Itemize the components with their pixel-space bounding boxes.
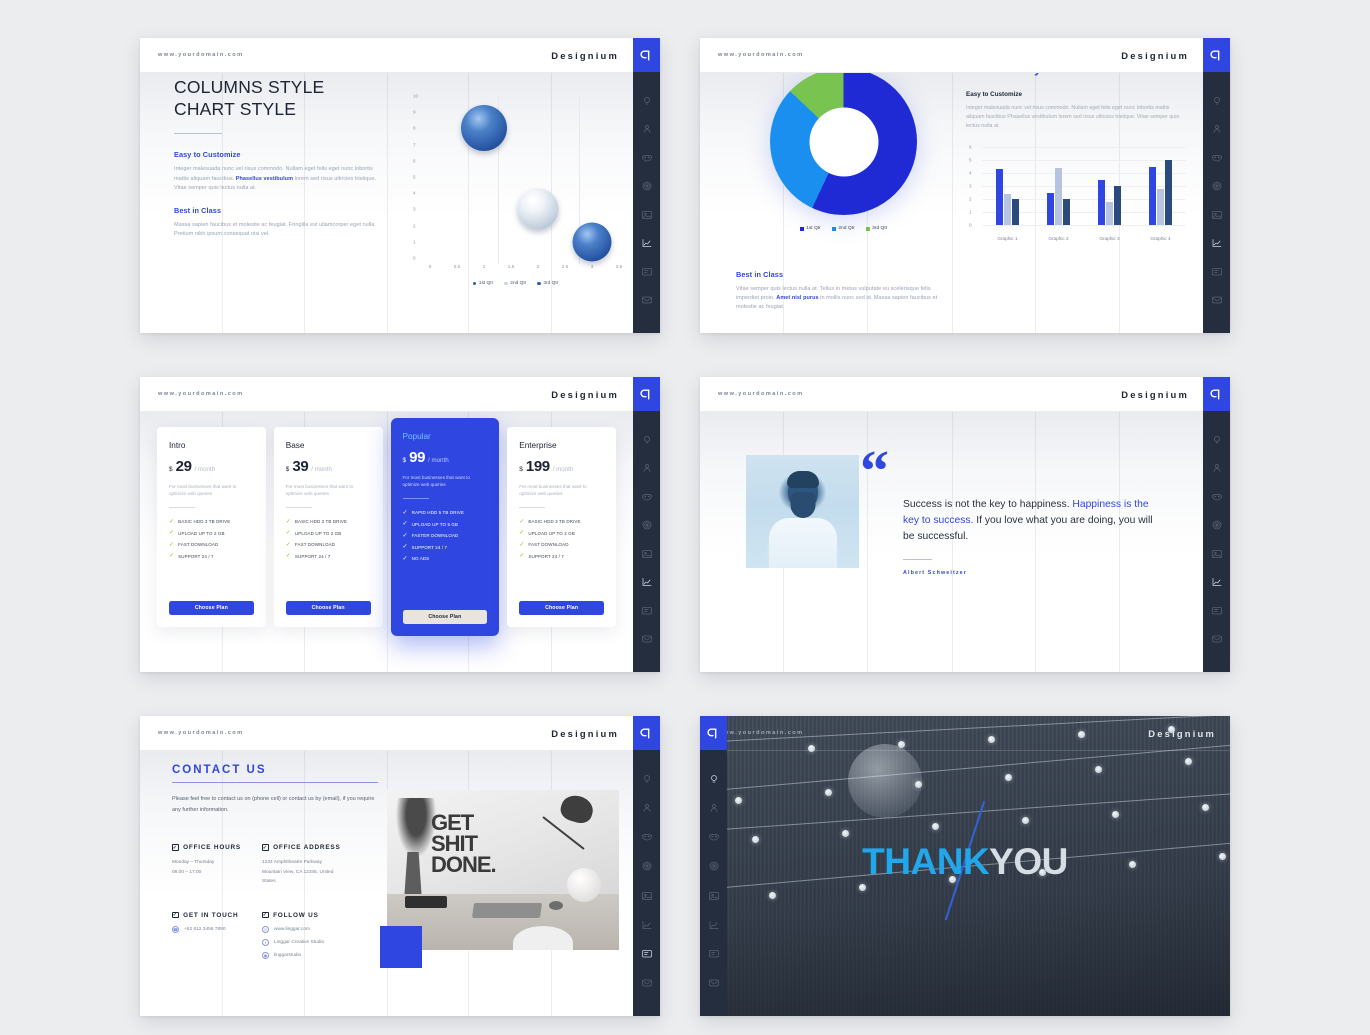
fingerprint-icon[interactable] (1211, 519, 1223, 531)
right-rail (633, 38, 660, 333)
plan-name: Enterprise (519, 441, 604, 450)
contact-heading: ✓OFFICE HOURS (172, 844, 262, 851)
feature-item: ✓FAST DOWNLOAD (519, 542, 604, 548)
chart-down-icon[interactable] (641, 576, 653, 588)
plan-name: Popular (403, 432, 488, 441)
feature-item: ✓FASTER DOWNLOAD (403, 533, 488, 539)
image-icon[interactable] (708, 890, 720, 902)
feature-list: ✓BASIC HDD 3 TB DRIVE✓UPLOAD UP TO 2 GB✓… (286, 519, 371, 560)
feature-label: FAST DOWNLOAD (295, 542, 335, 547)
section-heading-easy: Easy to Customize (966, 91, 1188, 98)
right-rail (1203, 377, 1230, 672)
section-heading-best: Best in Class (174, 206, 389, 215)
feature-list: ✓BASIC HDD 3 TB DRIVE✓UPLOAD UP TO 2 GB✓… (519, 519, 604, 560)
feature-item: ✓NO ADS (403, 556, 488, 562)
feature-label: UPLOAD UP TO 2 GB (528, 531, 574, 536)
feature-item: ✓FAST DOWNLOAD (169, 542, 254, 548)
y-tick-label: 6 (969, 145, 972, 150)
y-tick-label: 4 (413, 191, 416, 196)
card-rule (169, 507, 195, 508)
slide-quote[interactable]: www.yourdomain.com Designium “ Success i… (700, 377, 1230, 672)
contact-blocks: ✓OFFICE HOURSMonday – Thursday08.00 – 17… (172, 844, 382, 965)
y-tick-label: 0 (413, 256, 416, 261)
image-icon[interactable] (1211, 209, 1223, 221)
user-badge-icon[interactable] (708, 802, 720, 814)
mail-icon[interactable] (641, 977, 653, 989)
facebook-icon: f (262, 939, 269, 946)
rail-icon-list (633, 411, 660, 672)
contact-block: ✓FOLLOW US☉www.linggar.comfLinggar Creat… (262, 912, 382, 965)
bar[interactable] (1106, 202, 1113, 225)
donut-legend: 1st Qtr2nd Qtr3rd Qtr (736, 226, 951, 231)
feature-label: SUPPORT 24 / 7 (295, 554, 331, 559)
title-line-1: COLUMNS STYLE (174, 77, 324, 97)
chart-down-icon[interactable] (1211, 237, 1223, 249)
feature-label: UPLOAD UP TO 2 GB (295, 531, 341, 536)
lightbulb-icon[interactable] (708, 773, 720, 785)
feature-item: ✓BASIC HDD 3 TB DRIVE (169, 519, 254, 525)
feature-label: BASIC HDD 3 TB DRIVE (178, 519, 230, 524)
mask-icon[interactable] (641, 152, 653, 164)
feature-label: SUPPORT 24 / 7 (412, 545, 448, 550)
monitor-icon[interactable] (1211, 266, 1223, 278)
monitor-icon[interactable] (641, 605, 653, 617)
bar-group (1135, 147, 1186, 225)
bar[interactable] (1098, 180, 1105, 226)
legend-label: 2nd Qtr (510, 281, 526, 286)
plan-price: $199/ month (519, 458, 604, 475)
decorative-square (380, 926, 422, 968)
check-icon: ✓ (169, 553, 174, 559)
price-amount: 199 (526, 458, 550, 475)
currency-symbol: $ (169, 466, 173, 473)
price-period: / month (553, 466, 574, 473)
headline-word-a: THANK (862, 841, 989, 882)
light-bulb (1022, 817, 1029, 824)
check-icon: ✓ (169, 519, 174, 525)
price-period: / month (195, 466, 216, 473)
check-icon: ✓ (519, 542, 524, 548)
feature-item: ✓UPLOAD UP TO 2 GB (519, 530, 604, 536)
right-rail (633, 716, 660, 1016)
currency-symbol: $ (519, 466, 523, 473)
slide-contact-us[interactable]: www.yourdomain.com Designium CONTACT US … (140, 716, 660, 1016)
bar[interactable] (1149, 167, 1156, 226)
bar[interactable] (1157, 189, 1164, 225)
slide-pricing-plan[interactable]: www.yourdomain.com Designium Pricing Pla… (140, 377, 660, 672)
feature-item: ✓UPLOAD UP TO 2 GB (169, 530, 254, 536)
plan-price: $39/ month (286, 458, 371, 475)
x-tick-label: Graphic 1 (982, 236, 1033, 241)
fingerprint-icon[interactable] (708, 860, 720, 872)
portrait-image (746, 455, 859, 568)
pricing-card[interactable]: Enterprise$199/ monthFor most businesses… (507, 427, 616, 627)
user-badge-icon[interactable] (641, 462, 653, 474)
mask-icon[interactable] (708, 831, 720, 843)
y-tick-label: 5 (413, 175, 416, 180)
globe-icon: ☉ (262, 926, 269, 933)
y-tick-label: 5 (969, 158, 972, 163)
chart-down-icon[interactable] (641, 919, 653, 931)
contact-item[interactable]: fLinggar Creative Studio (262, 939, 382, 946)
monitor-icon[interactable] (1211, 605, 1223, 617)
x-tick-label: Graphic 4 (1135, 236, 1186, 241)
plan-name: Intro (169, 441, 254, 450)
contact-heading: ✓GET IN TOUCH (172, 912, 262, 919)
bar[interactable] (1114, 186, 1121, 225)
bubble-point[interactable] (573, 222, 612, 261)
bar[interactable] (1047, 193, 1054, 226)
check-icon: ✓ (286, 553, 291, 559)
price-period: / month (311, 466, 332, 473)
topbar-divider (700, 72, 1203, 73)
chart-gridline (982, 225, 1186, 226)
pricing-card[interactable]: Base$39/ monthFor most businesses that w… (274, 427, 383, 627)
bar[interactable] (1063, 199, 1070, 225)
chart-down-icon[interactable] (1211, 576, 1223, 588)
bar[interactable] (1055, 168, 1062, 225)
slide1-text-column: COLUMNS STYLE CHART STYLE Easy to Custom… (174, 76, 389, 239)
fingerprint-icon[interactable] (1211, 180, 1223, 192)
check-icon: ✓ (286, 530, 291, 536)
plan-description: For most businesses that want to optimiz… (169, 483, 254, 498)
photo-lamp-base (567, 868, 601, 902)
plan-description: For most businesses that want to optimiz… (519, 483, 604, 498)
legend-label: 1st Qtr (479, 281, 493, 286)
x-tick-label: 1.5 (508, 264, 514, 269)
user-badge-icon[interactable] (641, 802, 653, 814)
designium-logo-icon[interactable] (700, 716, 727, 750)
card-rule (403, 498, 429, 499)
mask-icon[interactable] (1211, 152, 1223, 164)
rail-icon-list (633, 72, 660, 333)
plan-price: $99/ month (403, 449, 488, 466)
rail-icon-list (700, 750, 727, 1016)
portrait-beard (790, 492, 815, 518)
body-link[interactable]: Phasellus vestibulum (236, 176, 293, 182)
page-title: COLUMNS STYLE CHART STYLE (174, 76, 389, 120)
bar-plot-area: 0123456 (982, 147, 1186, 225)
contact-intro: Please feel free to contact us on (phone… (172, 794, 380, 815)
slide-thank-you[interactable]: THANKYOU www.yourdomain.com Designium (700, 716, 1230, 1016)
feature-label: UPLOAD UP TO 5 GB (412, 522, 458, 527)
y-tick-label: 3 (969, 184, 972, 189)
image-icon[interactable] (641, 890, 653, 902)
fingerprint-icon[interactable] (641, 860, 653, 872)
checkbox-icon: ✓ (262, 844, 269, 851)
check-icon: ✓ (519, 519, 524, 525)
headline-word-b: YOU (989, 841, 1068, 882)
donut-ring (770, 68, 917, 215)
feature-label: FAST DOWNLOAD (528, 542, 568, 547)
slide-topbar: www.yourdomain.com Designium (700, 38, 1203, 72)
legend-item: 3rd Qtr (537, 281, 558, 286)
y-tick-label: 6 (413, 158, 416, 163)
designium-logo-icon[interactable] (1203, 38, 1230, 72)
plan-name: Base (286, 441, 371, 450)
brand-label: Designium (1121, 389, 1189, 400)
chart-down-icon[interactable] (641, 237, 653, 249)
y-tick-label: 1 (413, 239, 416, 244)
legend-item: 2nd Qtr (504, 281, 526, 286)
contact-item[interactable]: ☉www.linggar.com (262, 926, 382, 933)
plan-description: For most businesses that want to optimiz… (286, 483, 371, 498)
contact-line: 1234 Amphitheatre Parkway (262, 858, 382, 868)
donut-chart: 1st Qtr2nd Qtr3rd Qtr (736, 68, 951, 231)
legend-swatch (504, 282, 508, 286)
slide-topbar: www.yourdomain.com Designium (140, 38, 633, 72)
image-icon[interactable] (1211, 548, 1223, 560)
mask-icon[interactable] (641, 491, 653, 503)
feature-list: ✓BASIC HDD 3 TB DRIVE✓UPLOAD UP TO 2 GB✓… (169, 519, 254, 560)
x-tick-label: Graphic 3 (1084, 236, 1135, 241)
bar[interactable] (1004, 194, 1011, 225)
slide-canvas: www.yourdomain.com Designium 1st Qtr2nd … (700, 38, 1203, 333)
mask-icon[interactable] (641, 831, 653, 843)
contact-item[interactable]: ☎+62 812 3456 7890 (172, 926, 262, 933)
check-icon: ✓ (403, 556, 408, 562)
feature-label: NO ADS (412, 556, 430, 561)
quote-block: Success is not the key to happiness. Hap… (903, 497, 1161, 576)
title-rule (174, 133, 222, 134)
x-tick-label: 2.5 (562, 264, 568, 269)
monitor-icon[interactable] (708, 948, 720, 960)
y-tick-label: 0 (969, 223, 972, 228)
slide-topbar: www.yourdomain.com Designium (140, 377, 633, 411)
pricing-card[interactable]: Popular$99/ monthFor most businesses tha… (391, 418, 500, 636)
brand-label: Designium (551, 728, 619, 739)
bar-chart: 0123456 Graphic 1Graphic 2Graphic 3Graph… (966, 145, 1188, 241)
legend-item: 3rd Qtr (866, 226, 888, 231)
image-icon[interactable] (641, 548, 653, 560)
contact-heading-label: FOLLOW US (273, 912, 319, 919)
domain-label: www.yourdomain.com (718, 52, 804, 58)
light-bulb (1095, 766, 1102, 773)
contact-lines: 1234 Amphitheatre ParkwayMountain View, … (262, 858, 382, 887)
bar[interactable] (996, 169, 1003, 225)
image-icon[interactable] (641, 209, 653, 221)
choose-plan-button[interactable]: Choose Plan (169, 601, 254, 615)
lightbulb-icon[interactable] (641, 95, 653, 107)
designium-logo-icon[interactable] (633, 38, 660, 72)
pricing-card[interactable]: Intro$29/ monthFor most businesses that … (157, 427, 266, 627)
bubble-plot-area: 01234567891000.511.522.533.5 (430, 96, 619, 258)
monitor-icon[interactable] (641, 948, 653, 960)
chart-down-icon[interactable] (708, 919, 720, 931)
choose-plan-button[interactable]: Choose Plan (519, 601, 604, 615)
x-tick-label: 1 (483, 264, 486, 269)
contact-item-label: www.linggar.com (274, 927, 310, 932)
phone-icon: ☎ (172, 926, 179, 933)
light-bulb (1005, 774, 1012, 781)
mail-icon[interactable] (1211, 633, 1223, 645)
feature-item: ✓SUPPORT 24 / 7 (169, 553, 254, 559)
bar-x-labels: Graphic 1Graphic 2Graphic 3Graphic 4 (982, 236, 1186, 241)
legend-label: 3rd Qtr (872, 226, 887, 231)
legend-item: 1st Qtr (800, 226, 821, 231)
mail-icon[interactable] (641, 633, 653, 645)
x-tick-label: 0 (429, 264, 432, 269)
price-period: / month (428, 457, 449, 464)
portrait-torso (769, 518, 837, 568)
right-rail (1203, 38, 1230, 333)
legend-swatch (473, 282, 477, 286)
card-rule (519, 507, 545, 508)
user-badge-icon[interactable] (1211, 462, 1223, 474)
slide-our-first-style-chart[interactable]: www.yourdomain.com Designium 1st Qtr2nd … (700, 38, 1230, 333)
mail-icon[interactable] (708, 977, 720, 989)
check-icon: ✓ (519, 530, 524, 536)
contact-lines: Monday – Thursday08.00 – 17.00 (172, 858, 262, 877)
rail-icon-list (1203, 411, 1230, 672)
x-tick-label: 2 (537, 264, 540, 269)
y-tick-label: 4 (969, 171, 972, 176)
bar-group (1084, 147, 1135, 225)
y-tick-label: 7 (413, 142, 416, 147)
contact-line: Monday – Thursday (172, 858, 262, 868)
mail-icon[interactable] (641, 294, 653, 306)
legend-label: 1st Qtr (806, 226, 821, 231)
choose-plan-button[interactable]: Choose Plan (403, 610, 488, 624)
brand-label: Designium (1148, 728, 1216, 739)
fingerprint-icon[interactable] (641, 180, 653, 192)
check-icon: ✓ (403, 533, 408, 539)
slide-canvas: www.yourdomain.com Designium COLUMNS STY… (140, 38, 633, 333)
lightbulb-icon[interactable] (641, 434, 653, 446)
contact-block: ✓GET IN TOUCH☎+62 812 3456 7890 (172, 912, 262, 965)
legend-swatch (800, 227, 804, 231)
price-amount: 39 (292, 458, 308, 475)
user-badge-icon[interactable] (1211, 123, 1223, 135)
rail-icon-list (633, 750, 660, 1016)
price-amount: 99 (409, 449, 425, 466)
photo-speaker (405, 896, 447, 908)
topbar-divider (700, 411, 1203, 412)
page-title: CONTACT US (172, 764, 267, 776)
section-body-best: Massa sapien faucibus et molestie ac feu… (174, 221, 389, 239)
photo-wall-text: GETSHITDONE. (431, 812, 496, 875)
lightbulb-icon[interactable] (641, 773, 653, 785)
feature-item: ✓SUPPORT 24 / 7 (519, 553, 604, 559)
user-badge-icon[interactable] (641, 123, 653, 135)
designium-logo-icon[interactable] (633, 377, 660, 411)
slide-canvas: THANKYOU www.yourdomain.com Designium (700, 716, 1230, 1016)
lightbulb-icon[interactable] (1211, 95, 1223, 107)
mail-icon[interactable] (1211, 294, 1223, 306)
feature-item: ✓SUPPORT 24 / 7 (286, 553, 371, 559)
body-link[interactable]: Amet nisl purus (776, 295, 818, 301)
bubble-point[interactable] (461, 105, 507, 151)
brand-label: Designium (551, 50, 619, 61)
feature-label: BASIC HDD 3 TB DRIVE (295, 519, 347, 524)
plan-price: $29/ month (169, 458, 254, 475)
quote-author: Albert Schweitzer (903, 570, 1161, 576)
right-rail (700, 716, 727, 1016)
legend-swatch (537, 282, 541, 286)
contact-item-label: Linggar Creative Studio (274, 940, 324, 945)
bubble-point[interactable] (518, 189, 559, 230)
choose-plan-button[interactable]: Choose Plan (286, 601, 371, 615)
feature-item: ✓UPLOAD UP TO 2 GB (286, 530, 371, 536)
bar[interactable] (1012, 199, 1019, 225)
currency-symbol: $ (286, 466, 290, 473)
check-icon: ✓ (169, 530, 174, 536)
feature-item: ✓BASIC HDD 3 TB DRIVE (286, 519, 371, 525)
contact-heading-label: OFFICE ADDRESS (273, 844, 340, 851)
photo-laptop (472, 903, 542, 918)
lightbulb-icon[interactable] (1211, 434, 1223, 446)
contact-heading-label: GET IN TOUCH (183, 912, 238, 919)
photo-lamp-shade (558, 792, 596, 826)
contact-item-label: +62 812 3456 7890 (184, 927, 225, 932)
monitor-icon[interactable] (641, 266, 653, 278)
slide-deck: www.yourdomain.com Designium COLUMNS STY… (0, 0, 1370, 1035)
contact-heading: ✓OFFICE ADDRESS (262, 844, 382, 851)
bar[interactable] (1165, 160, 1172, 225)
designium-logo-icon[interactable] (633, 716, 660, 750)
feature-item: ✓FAST DOWNLOAD (286, 542, 371, 548)
topbar-divider (140, 411, 633, 412)
mask-icon[interactable] (1211, 491, 1223, 503)
legend-label: 2nd Qtr (838, 226, 854, 231)
slide2-best-in-class: Best in Class Vitae semper quis lectus n… (736, 270, 941, 313)
portrait-hair (787, 471, 819, 488)
check-icon: ✓ (286, 519, 291, 525)
photo-mouse (549, 901, 563, 910)
check-icon: ✓ (403, 521, 408, 527)
contact-heading: ✓FOLLOW US (262, 912, 382, 919)
checkbox-icon: ✓ (172, 912, 179, 919)
section-body-easy: Integer malesuada nunc vel risus commodo… (174, 165, 389, 193)
feature-label: FAST DOWNLOAD (178, 542, 218, 547)
feature-label: FASTER DOWNLOAD (412, 533, 459, 538)
feature-label: SUPPORT 24 / 7 (528, 554, 564, 559)
designium-logo-icon[interactable] (1203, 377, 1230, 411)
check-icon: ✓ (519, 553, 524, 559)
section-heading-easy: Easy to Customize (174, 150, 389, 159)
legend-swatch (832, 227, 836, 231)
feature-label: RAPID HDD 5 TB DRIVE (412, 510, 464, 515)
instagram-icon: ◉ (262, 952, 269, 959)
feature-label: BASIC HDD 3 TB DRIVE (528, 519, 580, 524)
pricing-cards: Intro$29/ monthFor most businesses that … (157, 427, 616, 627)
slide-topbar: www.yourdomain.com Designium (700, 716, 1230, 750)
brand-label: Designium (1121, 50, 1189, 61)
check-icon: ✓ (169, 542, 174, 548)
quote-text: Success is not the key to happiness. Hap… (903, 497, 1161, 545)
feature-item: ✓SUPPORT 24 / 7 (403, 544, 488, 550)
feature-list: ✓RAPID HDD 5 TB DRIVE✓UPLOAD UP TO 5 GB✓… (403, 510, 488, 562)
light-bulb (1112, 811, 1119, 818)
y-tick-label: 2 (969, 197, 972, 202)
contact-line: 08.00 – 17.00 (172, 868, 262, 878)
topbar-divider (140, 750, 633, 751)
title-line-2: CHART STYLE (174, 99, 296, 119)
check-icon: ✓ (403, 510, 408, 516)
currency-symbol: $ (403, 457, 407, 464)
y-tick-label: 8 (413, 126, 416, 131)
fingerprint-icon[interactable] (641, 519, 653, 531)
section-body-easy: Integer malesuada nunc vel risus commodo… (966, 104, 1188, 131)
feature-item: ✓RAPID HDD 5 TB DRIVE (403, 510, 488, 516)
section-body-best: Vitae semper quis lectus nulla at. Tellu… (736, 285, 941, 313)
feature-label: SUPPORT 24 / 7 (178, 554, 214, 559)
contact-item[interactable]: ◉linggarstudio (262, 952, 382, 959)
x-tick-label: Graphic 2 (1033, 236, 1084, 241)
feature-item: ✓UPLOAD UP TO 5 GB (403, 521, 488, 527)
slide-columns-chart-style[interactable]: www.yourdomain.com Designium COLUMNS STY… (140, 38, 660, 333)
thank-you-headline: THANKYOU (700, 841, 1230, 883)
